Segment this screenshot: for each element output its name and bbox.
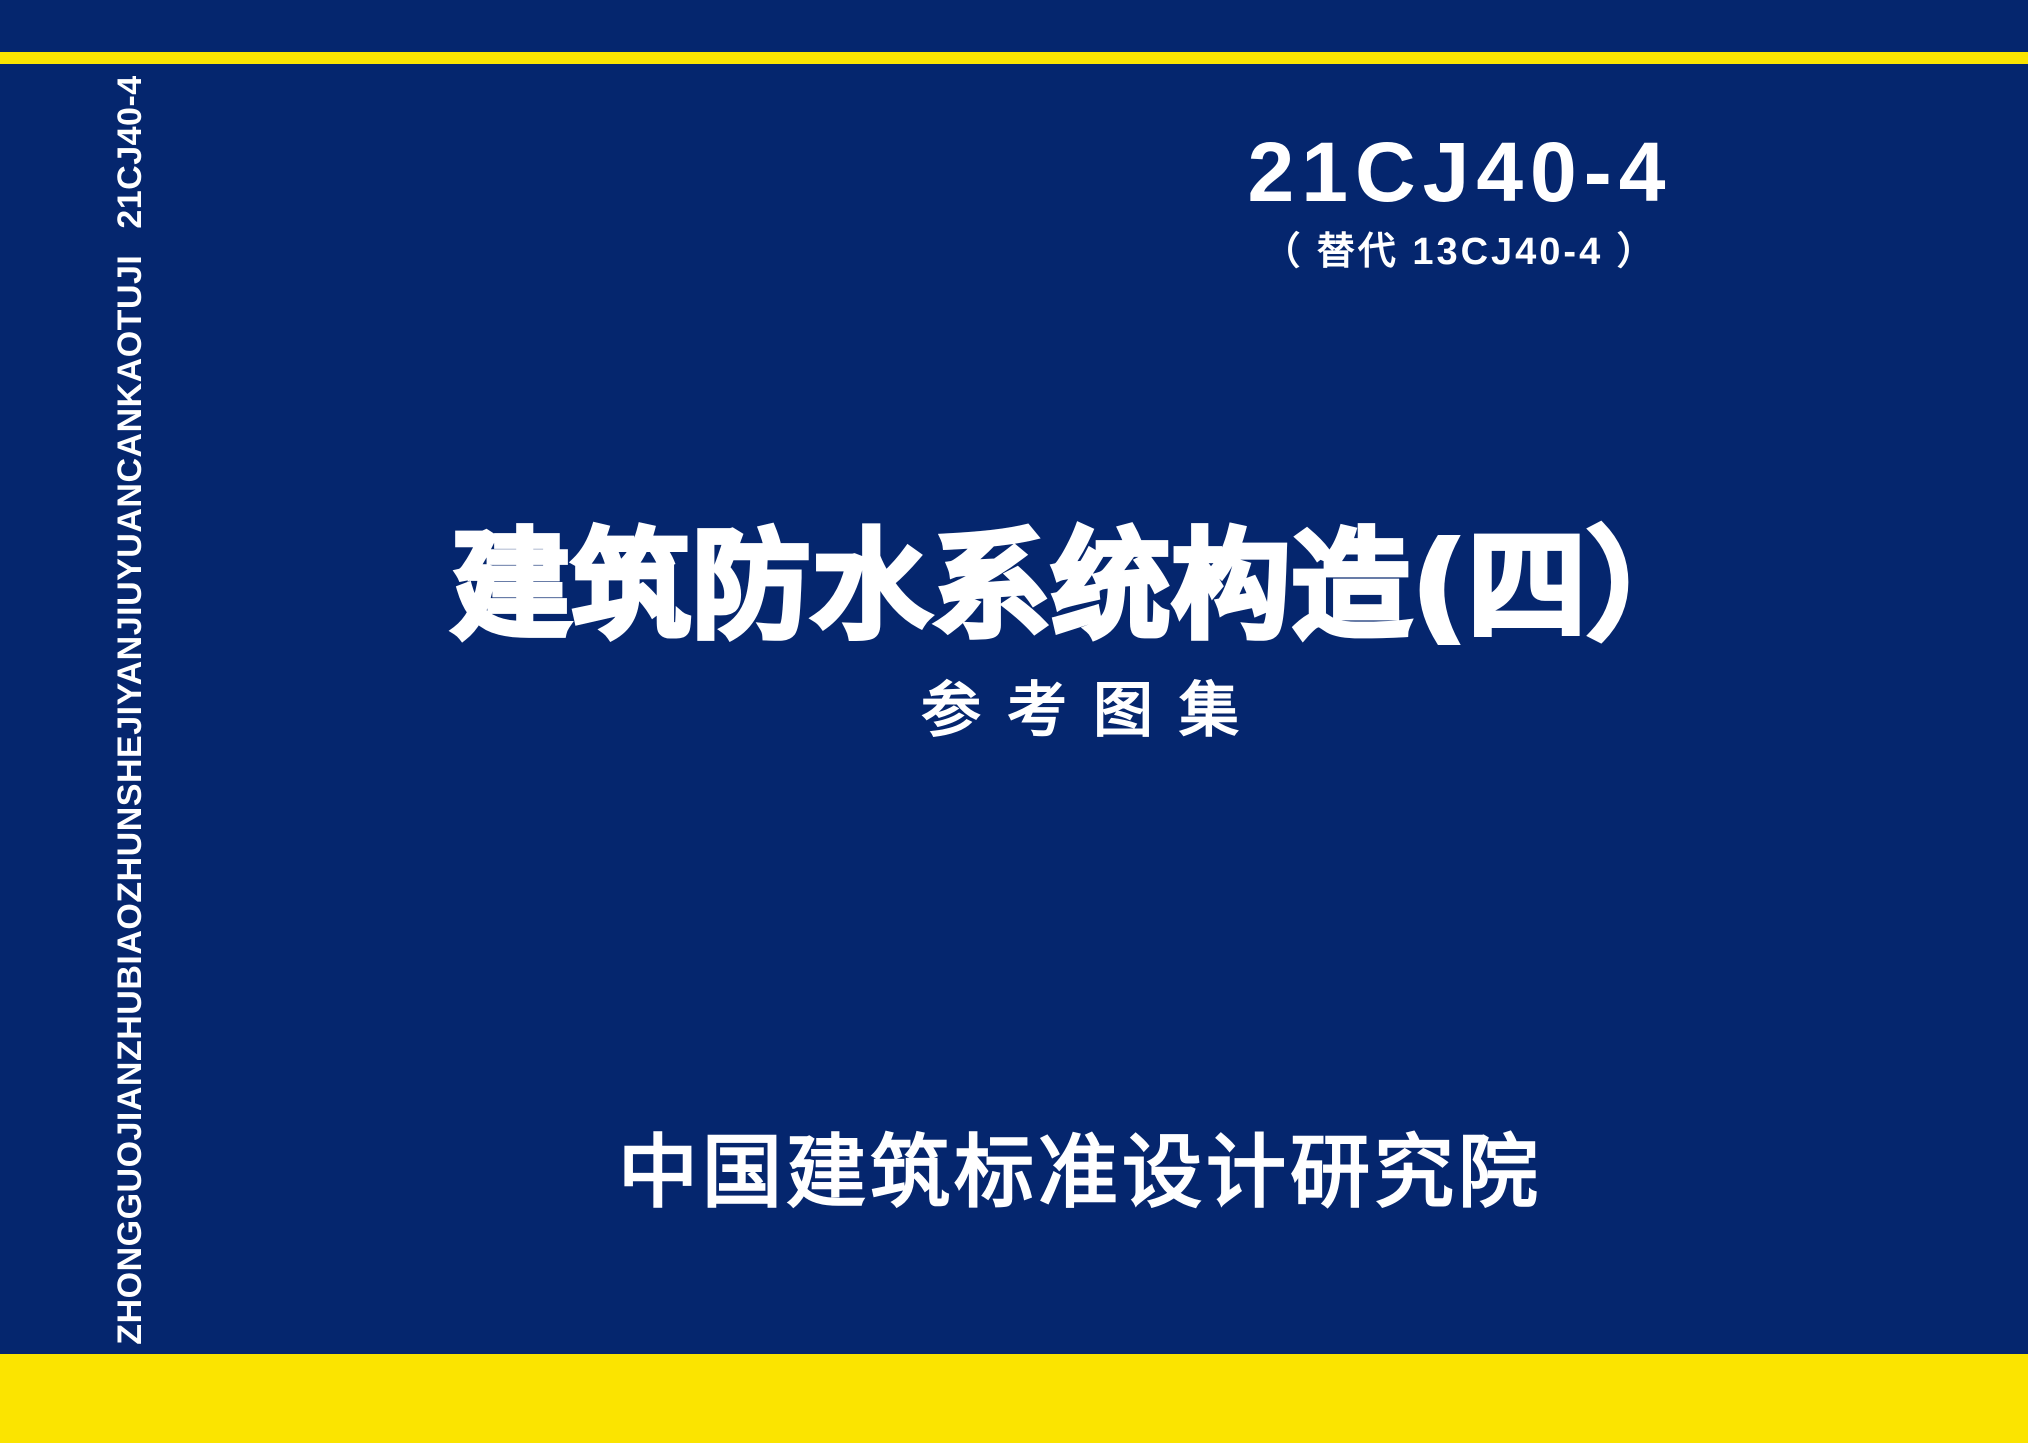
standard-code-block: 21CJ40-4 （ 替代 13CJ40-4 ） bbox=[1090, 128, 1830, 274]
main-title: 建筑防水系统构造(四） bbox=[300, 520, 1860, 652]
book-cover: ZHONGGUOJIANZHUBIAOZHUNSHEJIYANJIUYUANCA… bbox=[0, 0, 2028, 1443]
sub-title: 参考图集 bbox=[300, 678, 1860, 744]
replaces-note: （ 替代 13CJ40-4 ） bbox=[1090, 232, 1830, 274]
title-block: 建筑防水系统构造(四） 参考图集 bbox=[300, 520, 1860, 744]
spine-panel: ZHONGGUOJIANZHUBIAOZHUNSHEJIYANJIUYUANCA… bbox=[82, 140, 178, 1280]
publisher-name: 中国建筑标准设计研究院 bbox=[300, 1128, 1860, 1216]
spine-pinyin: ZHONGGUOJIANZHUBIAOZHUNSHEJIYANJIUYUANCA… bbox=[111, 255, 149, 1345]
publisher-block: 中国建筑标准设计研究院 bbox=[300, 1128, 1860, 1216]
spine-code: 21CJ40-4 bbox=[111, 75, 149, 228]
top-accent-stripe bbox=[0, 52, 2028, 64]
spine-text: ZHONGGUOJIANZHUBIAOZHUNSHEJIYANJIUYUANCA… bbox=[113, 75, 147, 1344]
standard-code: 21CJ40-4 bbox=[1090, 128, 1830, 216]
bottom-accent-band bbox=[0, 1354, 2028, 1443]
